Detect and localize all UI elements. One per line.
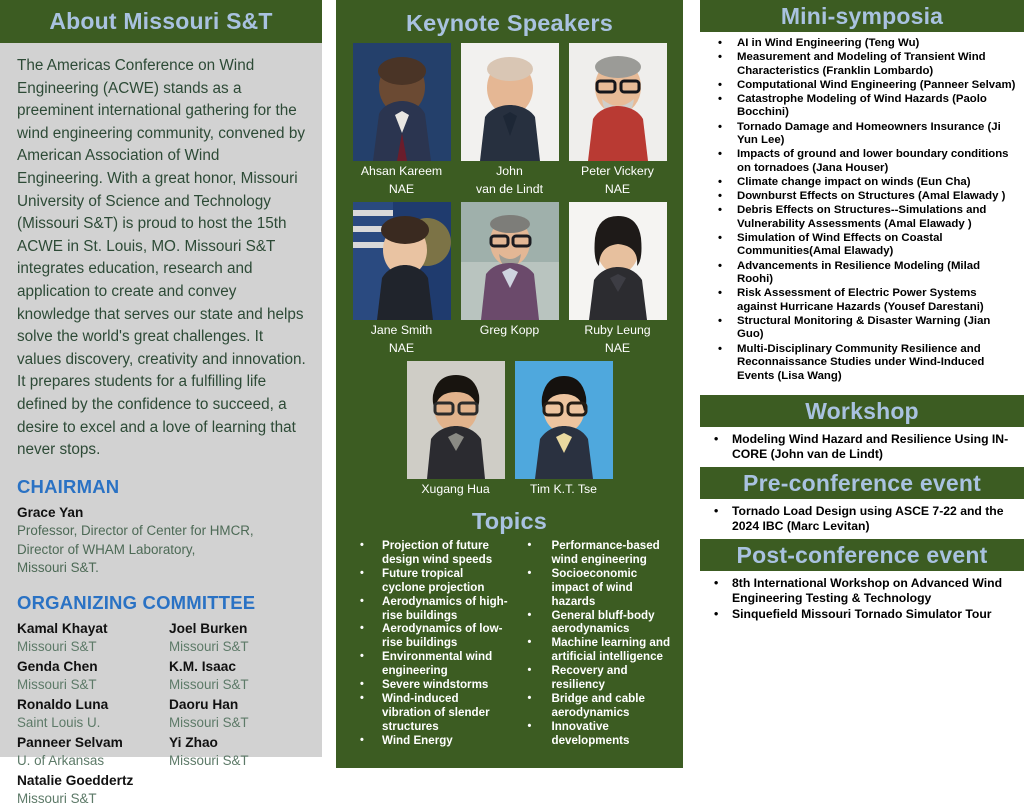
speaker-name-line2: van de Lindt <box>461 182 559 197</box>
topic-item: General bluff-body aerodynamics <box>528 609 678 637</box>
speaker-card: Xugang Hua <box>407 361 505 500</box>
minisymposia-item: Debris Effects on Structures--Simulation… <box>702 204 1016 231</box>
topic-item: Aerodynamics of low-rise buildings <box>360 622 510 650</box>
workshop-item: Modeling Wind Hazard and Resilience Usin… <box>702 432 1016 462</box>
committee-member-affiliation: Missouri S&T <box>169 714 322 733</box>
chairman-line-1: Professor, Director of Center for HMCR, <box>17 522 322 541</box>
topics-columns: Projection of future design wind speeds … <box>336 539 683 748</box>
postconference-item: Sinquefield Missouri Tornado Simulator T… <box>702 607 1016 622</box>
minisymposia-item: AI in Wind Engineering (Teng Wu) <box>702 37 1016 51</box>
minisymposia-item: Advancements in Resilience Modeling (Mil… <box>702 260 1016 287</box>
speaker-card: Tim K.T. Tse <box>515 361 613 500</box>
spacer <box>700 388 1024 395</box>
speaker-name-line2: NAE <box>353 182 451 197</box>
speaker-photo <box>569 43 667 161</box>
committee-member: Ronaldo Luna Saint Louis U. <box>17 696 169 733</box>
committee-member-name: Joel Burken <box>169 620 322 639</box>
committee-member: Joel Burken Missouri S&T <box>169 620 322 657</box>
speaker-card: Jane Smith NAE <box>353 202 451 355</box>
committee-member-affiliation: Missouri S&T <box>17 676 169 695</box>
minisymposia-item: Measurement and Modeling of Transient Wi… <box>702 51 1016 78</box>
committee-member-name: Natalie Goeddertz <box>17 772 169 791</box>
speaker-name-line1: Xugang Hua <box>407 482 505 497</box>
topic-item: Aerodynamics of high-rise buildings <box>360 595 510 623</box>
topic-item: Wind-induced vibration of slender struct… <box>360 692 510 734</box>
preconference-header: Pre-conference event <box>700 467 1024 499</box>
committee-member-name: Kamal Khayat <box>17 620 169 639</box>
speaker-card: Peter Vickery NAE <box>569 43 667 196</box>
committee-member-name: Daoru Han <box>169 696 322 715</box>
topic-item: Bridge and cable aerodynamics <box>528 692 678 720</box>
minisymposia-list: AI in Wind Engineering (Teng Wu) Measure… <box>700 32 1024 388</box>
preconference-list: Tornado Load Design using ASCE 7-22 and … <box>700 499 1024 539</box>
about-panel: About Missouri S&T The Americas Conferen… <box>0 0 322 757</box>
about-panel-header: About Missouri S&T <box>0 0 322 43</box>
minisymposia-item: Structural Monitoring & Disaster Warning… <box>702 315 1016 342</box>
speaker-photo <box>569 202 667 320</box>
minisymposia-item: Downburst Effects on Structures (Amal El… <box>702 190 1016 204</box>
minisymposia-item: Climate change impact on winds (Eun Cha) <box>702 176 1016 190</box>
topic-item: Machine learning and artificial intellig… <box>528 636 678 664</box>
minisymposia-header: Mini-symposia <box>700 0 1024 32</box>
speaker-card: Ahsan Kareem NAE <box>353 43 451 196</box>
minisymposia-item: Risk Assessment of Electric Power System… <box>702 287 1016 314</box>
committee-member-name: Ronaldo Luna <box>17 696 169 715</box>
speaker-card: Ruby Leung NAE <box>569 202 667 355</box>
committee-member-empty <box>169 772 322 809</box>
organizing-committee-list: Kamal Khayat Missouri S&T Joel Burken Mi… <box>17 620 322 810</box>
committee-member: Natalie Goeddertz Missouri S&T <box>17 772 169 809</box>
speaker-row-3: Xugang Hua Tim K.T. Tse <box>336 361 683 500</box>
speaker-name-line2: NAE <box>569 182 667 197</box>
committee-member-affiliation: Missouri S&T <box>169 676 322 695</box>
committee-member: Kamal Khayat Missouri S&T <box>17 620 169 657</box>
committee-member-name: Panneer Selvam <box>17 734 169 753</box>
chairman-block: Grace Yan Professor, Director of Center … <box>17 504 322 578</box>
about-text: The Americas Conference on Wind Engineer… <box>0 43 322 462</box>
minisymposia-item: Tornado Damage and Homeowners Insurance … <box>702 121 1016 148</box>
minisymposia-item: Impacts of ground and lower boundary con… <box>702 148 1016 175</box>
committee-member: Daoru Han Missouri S&T <box>169 696 322 733</box>
speaker-photo <box>461 202 559 320</box>
minisymposia-item: Simulation of Wind Effects on Coastal Co… <box>702 232 1016 259</box>
workshop-header: Workshop <box>700 395 1024 427</box>
speaker-name-line2: NAE <box>569 341 667 356</box>
committee-member: Yi Zhao Missouri S&T <box>169 734 322 771</box>
speaker-photo <box>515 361 613 479</box>
speaker-name-line1: John <box>461 164 559 179</box>
speaker-card: John van de Lindt <box>461 43 559 196</box>
topic-item: Environmental wind engineering <box>360 650 510 678</box>
preconference-item: Tornado Load Design using ASCE 7-22 and … <box>702 504 1016 534</box>
chairman-line-3: Missouri S&T. <box>17 559 322 578</box>
speaker-name-line1: Tim K.T. Tse <box>515 482 613 497</box>
speaker-name-line1: Jane Smith <box>353 323 451 338</box>
workshop-list: Modeling Wind Hazard and Resilience Usin… <box>700 427 1024 467</box>
speaker-row-1: Ahsan Kareem NAE John van de Lindt Peter… <box>336 43 683 196</box>
topic-item: Performance-based wind engineering <box>528 539 678 567</box>
topic-item: Projection of future design wind speeds <box>360 539 510 567</box>
speaker-name-line1: Greg Kopp <box>461 323 559 338</box>
committee-member: Genda Chen Missouri S&T <box>17 658 169 695</box>
topics-header: Topics <box>336 508 683 535</box>
postconference-list: 8th International Workshop on Advanced W… <box>700 571 1024 627</box>
committee-member-name: K.M. Isaac <box>169 658 322 677</box>
speaker-photo <box>407 361 505 479</box>
minisymposia-item: Multi-Disciplinary Community Resilience … <box>702 343 1016 384</box>
keynote-speakers-panel: Keynote Speakers Ahsan Kareem NAE John v… <box>336 0 683 768</box>
topics-column-right: Performance-based wind engineering Socio… <box>510 539 678 748</box>
chairman-heading: CHAIRMAN <box>17 476 322 498</box>
chairman-line-2: Director of WHAM Laboratory, <box>17 541 322 560</box>
minisymposia-item: Catastrophe Modeling of Wind Hazards (Pa… <box>702 93 1016 120</box>
organizing-committee-heading: ORGANIZING COMMITTEE <box>17 592 322 614</box>
speaker-name-line1: Peter Vickery <box>569 164 667 179</box>
committee-member-affiliation: Missouri S&T <box>17 790 169 809</box>
speaker-photo <box>461 43 559 161</box>
committee-member-name: Genda Chen <box>17 658 169 677</box>
keynote-speakers-header: Keynote Speakers <box>336 0 683 37</box>
speaker-card: Greg Kopp <box>461 202 559 355</box>
topic-item: Recovery and resiliency <box>528 664 678 692</box>
speaker-photo <box>353 202 451 320</box>
speaker-photo <box>353 43 451 161</box>
topic-item: Socioeconomic impact of wind hazards <box>528 567 678 609</box>
topic-item: Future tropical cyclone projection <box>360 567 510 595</box>
topic-item: Innovative developments <box>528 720 678 748</box>
chairman-name: Grace Yan <box>17 504 322 523</box>
committee-member-name: Yi Zhao <box>169 734 322 753</box>
speaker-row-2: Jane Smith NAE Greg Kopp Ruby Leung NAE <box>336 202 683 355</box>
speaker-name-line1: Ahsan Kareem <box>353 164 451 179</box>
topic-item: Wind Energy <box>360 734 510 748</box>
postconference-header: Post-conference event <box>700 539 1024 571</box>
committee-member-affiliation: Missouri S&T <box>169 638 322 657</box>
committee-member: K.M. Isaac Missouri S&T <box>169 658 322 695</box>
topics-column-left: Projection of future design wind speeds … <box>342 539 510 748</box>
minisymposia-item: Computational Wind Engineering (Panneer … <box>702 79 1016 93</box>
committee-member-affiliation: Saint Louis U. <box>17 714 169 733</box>
postconference-item: 8th International Workshop on Advanced W… <box>702 576 1016 606</box>
programs-panel: Mini-symposia AI in Wind Engineering (Te… <box>700 0 1024 768</box>
committee-member: Panneer Selvam U. of Arkansas <box>17 734 169 771</box>
topic-item: Severe windstorms <box>360 678 510 692</box>
speaker-name-line2: NAE <box>353 341 451 356</box>
committee-member-affiliation: Missouri S&T <box>17 638 169 657</box>
speaker-name-line1: Ruby Leung <box>569 323 667 338</box>
